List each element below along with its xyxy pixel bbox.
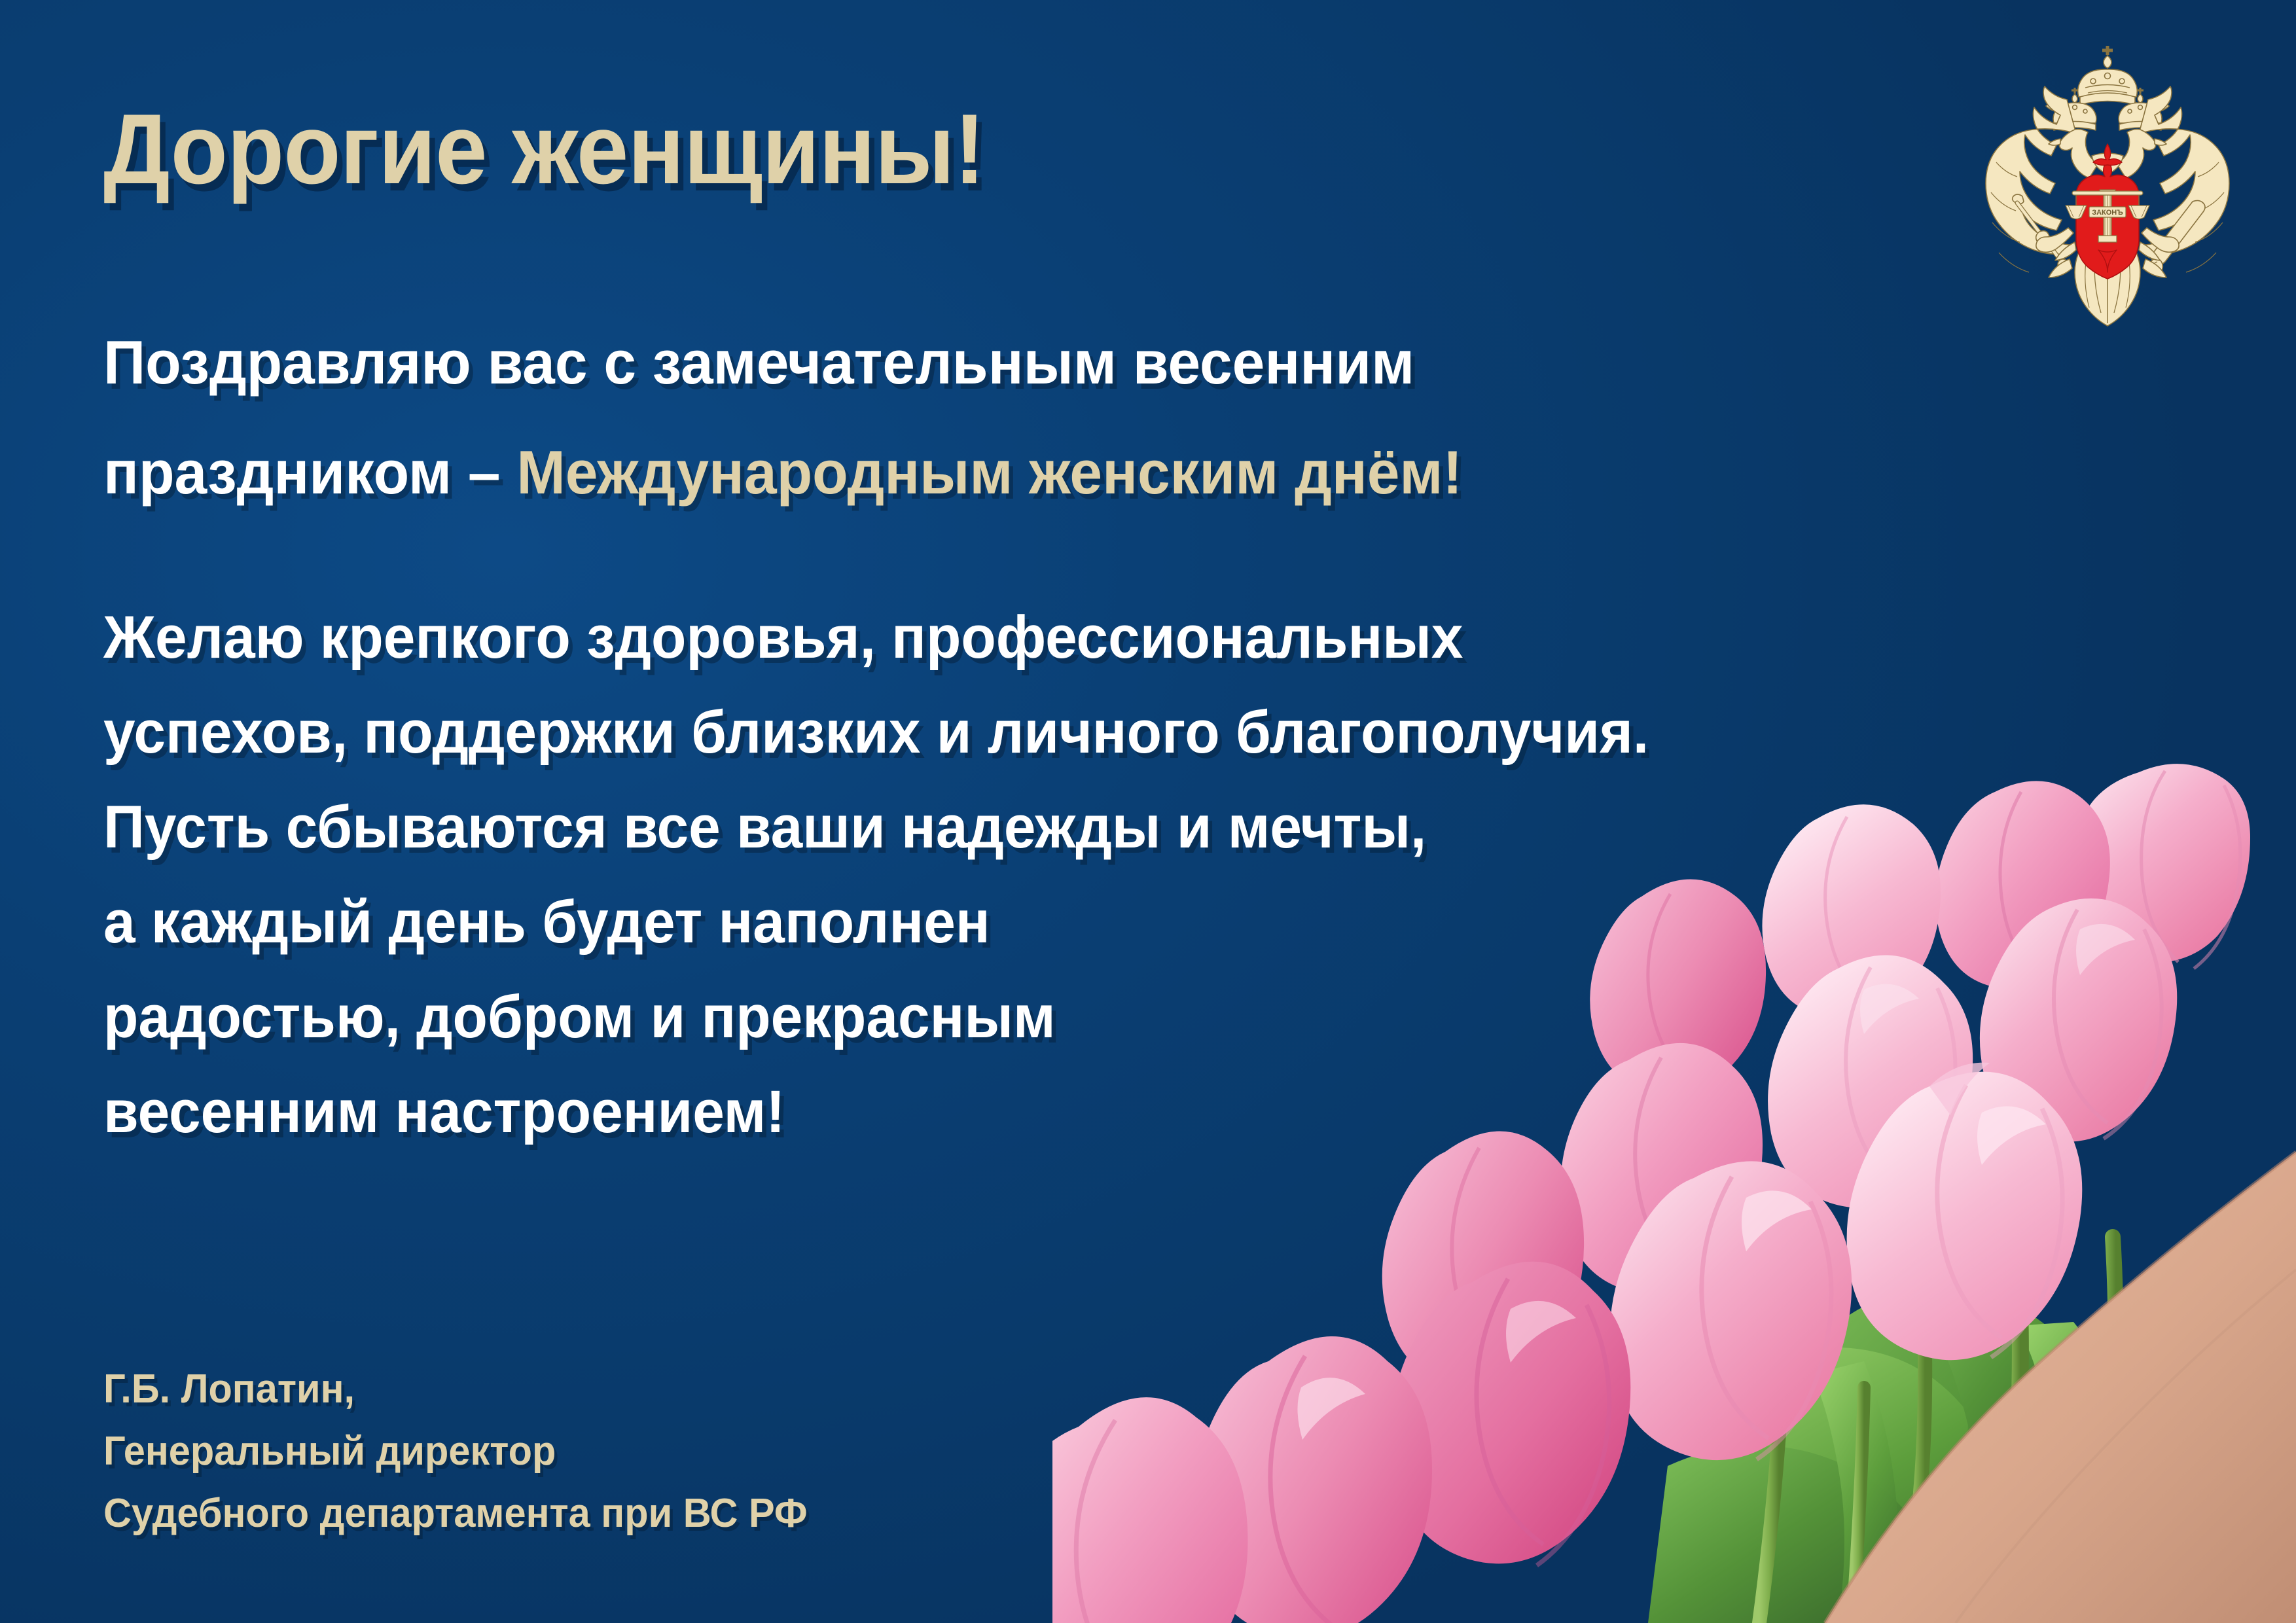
wish-line: Желаю крепкого здоровья, профессиональны… <box>103 590 1658 685</box>
text-column: Дорогие женщины! Поздравляю вас с замеча… <box>97 0 1772 1623</box>
greeting-poster: ЗАКОНЪ <box>0 0 2296 1623</box>
greeting-line-2-highlight: Международным женским днём! <box>516 438 1462 507</box>
greeting-line-2: праздником – Международным женским днём! <box>103 418 1658 527</box>
signature-organization: Судебного департамента при ВС РФ <box>103 1482 808 1544</box>
wish-line: а каждый день будет наполнен <box>103 875 1658 970</box>
signature-name: Г.Б. Лопатин, <box>103 1358 808 1420</box>
central-crown <box>2078 46 2138 105</box>
wish-line: Пусть сбываются все ваши надежды и мечты… <box>103 780 1658 875</box>
wish-block: Желаю крепкого здоровья, профессиональны… <box>103 590 1658 1160</box>
wish-line: радостью, добром и прекрасным <box>103 970 1658 1065</box>
signature-block: Г.Б. Лопатин, Генеральный директор Судеб… <box>103 1358 808 1544</box>
shield-motto: ЗАКОНЪ <box>2092 209 2123 217</box>
greeting-line-2-plain: праздником – <box>103 438 516 507</box>
page-title: Дорогие женщины! <box>103 99 984 199</box>
greeting-block: Поздравляю вас с замечательным весенним … <box>103 308 1658 527</box>
wish-line: успехов, поддержки близких и личного бла… <box>103 685 1658 780</box>
greeting-line-1: Поздравляю вас с замечательным весенним <box>103 308 1658 418</box>
signature-position: Генеральный директор <box>103 1420 808 1482</box>
russian-double-headed-eagle-judicial-department-emblem: ЗАКОНЪ <box>1977 34 2238 348</box>
wish-line: весенним настроением! <box>103 1065 1658 1160</box>
